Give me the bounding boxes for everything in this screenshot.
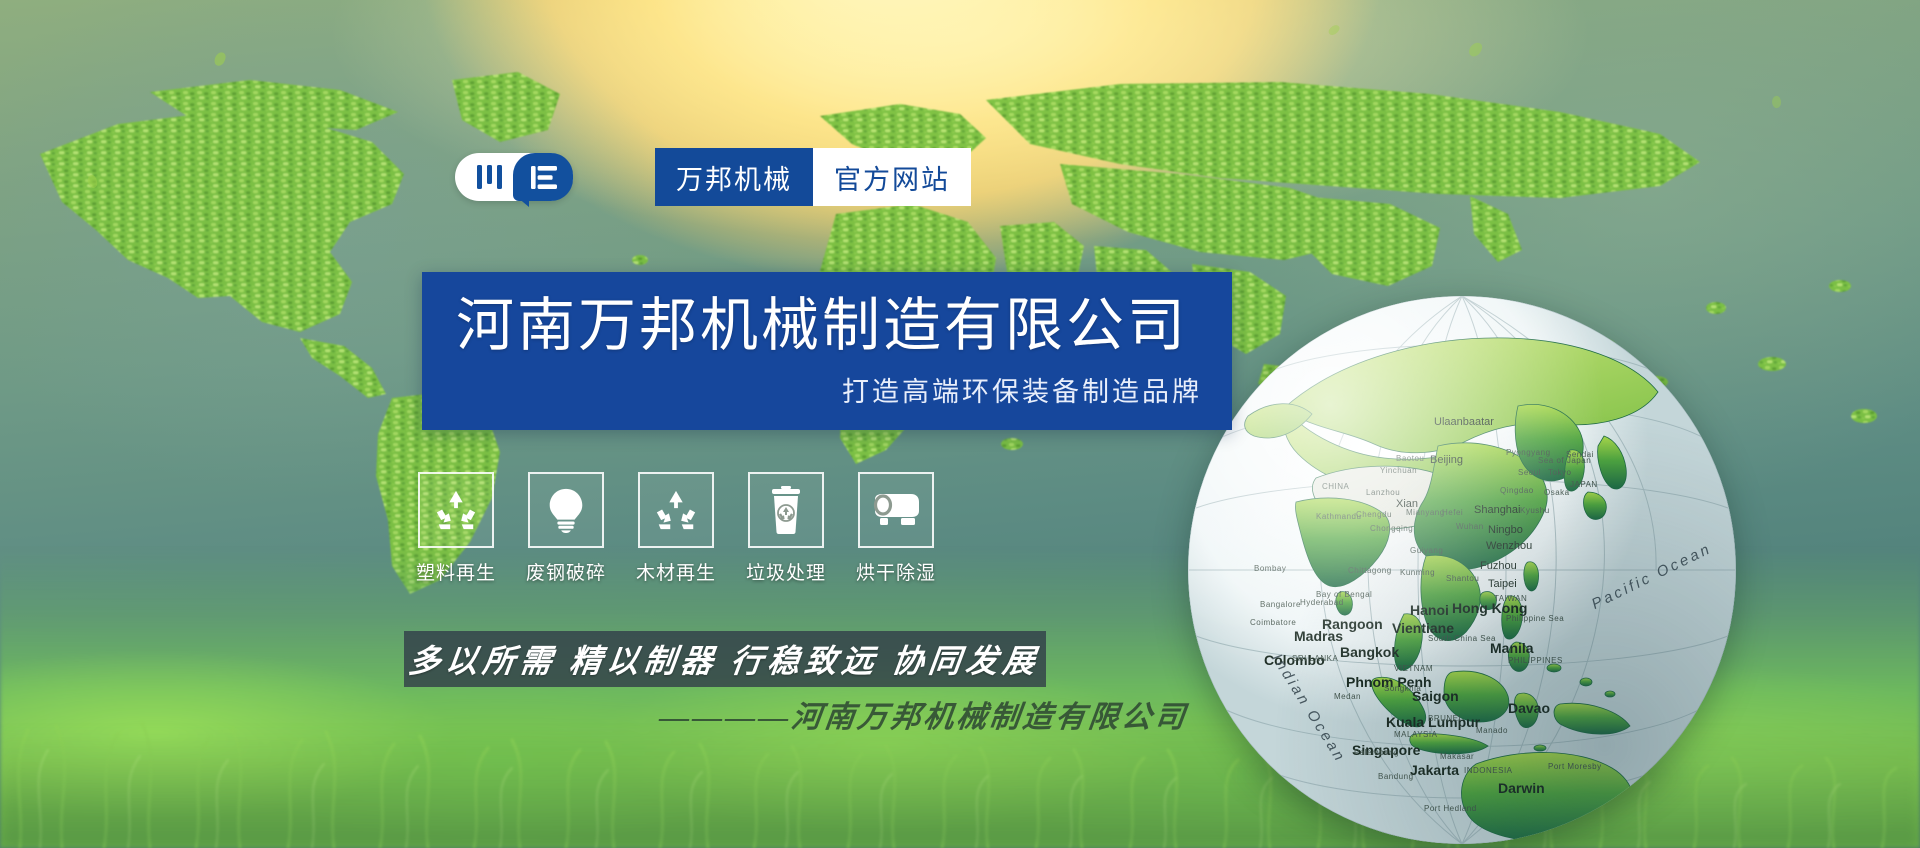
- globe-city-label: Kunming: [1400, 568, 1435, 577]
- service-item-scrap-steel-crushing[interactable]: 废钢破碎: [528, 472, 604, 585]
- service-item-plastic-recycling[interactable]: 塑料再生: [418, 472, 494, 585]
- globe-city-label: Bombay: [1254, 564, 1286, 573]
- trash-bin-icon: [769, 486, 803, 534]
- recycle-icon: [433, 487, 479, 533]
- globe-city-label: Hefei: [1442, 508, 1463, 517]
- slogan-text: 多以所需 精以制器 行稳致远 协同发展: [407, 636, 1044, 682]
- globe-sea-label: Philippine Sea: [1506, 614, 1564, 623]
- globe-region-label: CHINA: [1322, 482, 1349, 491]
- globe-city-label: Wenzhou: [1486, 540, 1532, 552]
- slogan-band: 多以所需 精以制器 行稳致远 协同发展: [404, 631, 1046, 687]
- globe-region-label: INDONESIA: [1464, 766, 1513, 775]
- globe-sea-label: Bay of Bengal: [1316, 590, 1372, 599]
- page-title: 河南万邦机械制造有限公司: [456, 296, 1202, 356]
- logo-w-icon: [477, 165, 507, 189]
- page-subtitle: 打造高端环保装备制造品牌: [456, 370, 1202, 409]
- site-nav[interactable]: 万邦机械 官方网站: [655, 148, 971, 206]
- globe-city-label: Kyushu: [1520, 506, 1550, 515]
- globe-city-label: Bangkok: [1340, 644, 1399, 660]
- globe-region-label: PHILIPPINES: [1508, 656, 1563, 665]
- service-label: 木材再生: [636, 558, 716, 585]
- globe-city-label: Manado: [1476, 726, 1508, 735]
- globe-city-label: Coimbatore: [1250, 618, 1296, 627]
- lightbulb-icon: [544, 487, 588, 533]
- service-icon-frame[interactable]: [748, 472, 824, 548]
- service-label: 垃圾处理: [746, 558, 826, 585]
- globe-city-label: Shanghai: [1474, 504, 1521, 516]
- service-item-drying-dehumidifying[interactable]: 烘干除湿: [858, 472, 934, 585]
- service-icon-frame[interactable]: [418, 472, 494, 548]
- globe-city-label: Chongqing: [1370, 524, 1413, 533]
- service-icon-frame[interactable]: [858, 472, 934, 548]
- globe-city-label: Shantou: [1446, 574, 1479, 583]
- globe-city-label: Jakarta: [1410, 762, 1459, 778]
- slogan-attribution: ————河南万邦机械制造有限公司: [657, 692, 1222, 736]
- globe-city-label: Manila: [1490, 640, 1534, 656]
- globe-city-label: Hanoi: [1410, 602, 1449, 618]
- globe-city-label: Wuhan: [1456, 522, 1484, 531]
- service-label: 烘干除湿: [856, 558, 936, 585]
- globe-city-label: Davao: [1508, 700, 1550, 716]
- wanbang-logo[interactable]: [455, 153, 573, 201]
- globe-region-label: VIETNAM: [1394, 664, 1433, 673]
- globe-city-label: Port Moresby: [1548, 762, 1602, 771]
- globe-city-label: Beijing: [1430, 454, 1463, 466]
- globe-city-label: Taipei: [1488, 578, 1517, 590]
- globe-city-label: Yinchuan: [1380, 466, 1417, 475]
- dryer-drum-icon: [871, 493, 921, 527]
- service-item-wood-recycling[interactable]: 木材再生: [638, 472, 714, 585]
- globe-city-label: Seoul: [1518, 468, 1541, 477]
- globe-city-label: Kathmandu: [1316, 512, 1361, 521]
- globe-sphere: Ulaanbaatar Beijing Baotou Yinchuan Lanz…: [1188, 296, 1736, 844]
- globe-city-label: Chittagong: [1348, 566, 1392, 575]
- hero-banner: Ulaanbaatar Beijing Baotou Yinchuan Lanz…: [0, 0, 1920, 848]
- globe-city-label: Palembang: [1354, 748, 1399, 757]
- globe-sea-label: Sea of Japan: [1538, 456, 1591, 465]
- logo-b-icon: [531, 166, 557, 189]
- service-item-waste-treatment[interactable]: 垃圾处理: [748, 472, 824, 585]
- service-icon-frame[interactable]: [528, 472, 604, 548]
- globe-city-label: Baotou: [1396, 454, 1424, 463]
- globe-city-label: Medan: [1334, 692, 1361, 701]
- globe-city-label: Hyderabad: [1300, 598, 1344, 607]
- globe-city-label: Darwin: [1498, 780, 1545, 796]
- service-label: 废钢破碎: [526, 558, 606, 585]
- tab-official-site[interactable]: 官方网站: [813, 148, 971, 206]
- globe-city-label: Bangalore: [1260, 600, 1301, 609]
- globe-region-label: BRUNEI: [1428, 714, 1461, 723]
- globe-city-label: Songkhla: [1384, 684, 1421, 693]
- globe-city-label: Ulaanbaatar: [1434, 416, 1494, 428]
- globe-city-label: Fuzhou: [1480, 560, 1517, 572]
- globe-city-label: Qingdao: [1500, 486, 1534, 495]
- recycle-icon: [653, 487, 699, 533]
- globe-city-label: Guiyang: [1410, 546, 1443, 555]
- service-label: 塑料再生: [416, 558, 496, 585]
- globe-city-label: Madras: [1294, 628, 1343, 644]
- globe-region-label: MALAYSIA: [1394, 730, 1437, 739]
- globe-sea-label: South China Sea: [1428, 634, 1496, 643]
- service-icon-frame[interactable]: [638, 472, 714, 548]
- globe-city-label: Osaka: [1544, 488, 1570, 497]
- service-icon-row: 塑料再生 废钢破碎: [418, 472, 934, 585]
- globe-city-label: Makasar: [1440, 752, 1474, 761]
- globe-city-label: Mianyang: [1406, 508, 1445, 517]
- globe-city-label: Lanzhou: [1366, 488, 1400, 497]
- hero-title-panel: 河南万邦机械制造有限公司 打造高端环保装备制造品牌: [422, 272, 1232, 430]
- globe-city-label: Bandung: [1378, 772, 1414, 781]
- tab-wanbang-jixie[interactable]: 万邦机械: [655, 148, 813, 206]
- globe-region-label: SRI LANKA: [1292, 654, 1338, 663]
- globe-city-label: Tokyo: [1548, 468, 1571, 477]
- earth-globe: Ulaanbaatar Beijing Baotou Yinchuan Lanz…: [1188, 296, 1736, 844]
- globe-region-label: JAPAN: [1570, 480, 1598, 489]
- globe-city-label: Port Hedland: [1424, 804, 1477, 813]
- globe-city-label: Ningbo: [1488, 524, 1523, 536]
